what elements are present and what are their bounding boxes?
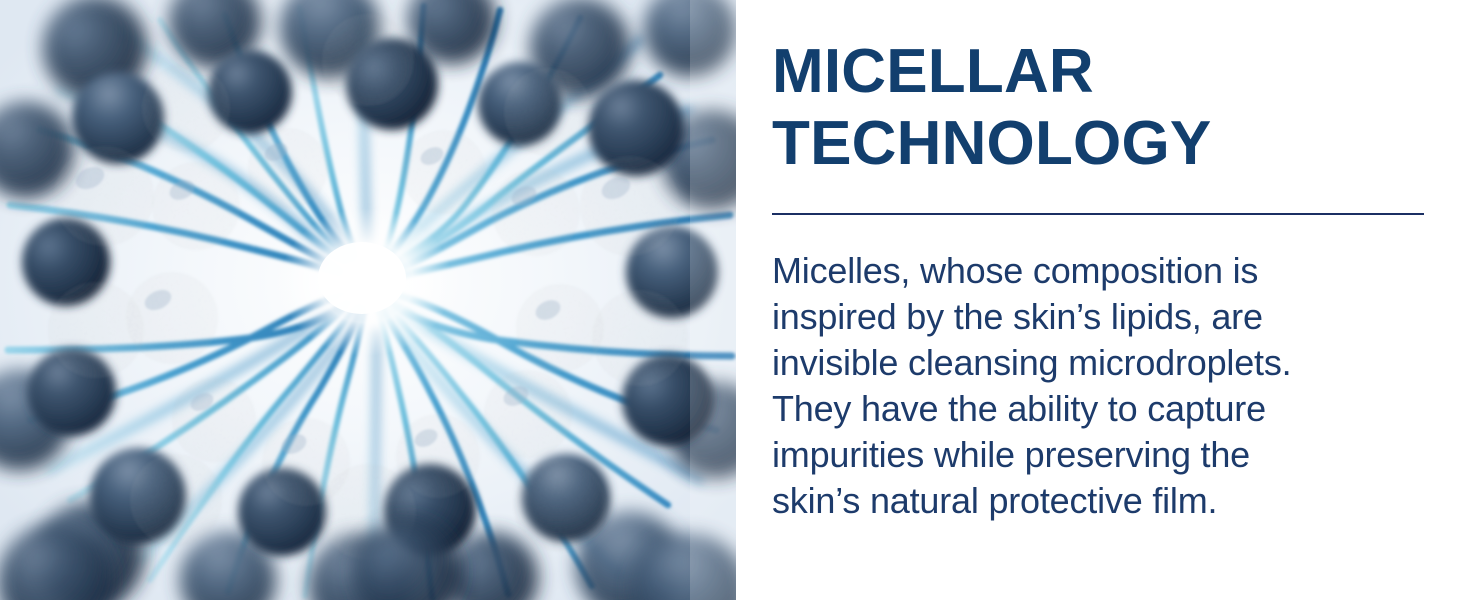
divider — [772, 213, 1424, 215]
page-title: MICELLAR TECHNOLOGY — [772, 36, 1424, 180]
micelle-3d-illustration — [0, 0, 736, 600]
body-paragraph: Micelles, whose composition is inspired … — [772, 248, 1424, 524]
copy-panel: MICELLAR TECHNOLOGY Micelles, whose comp… — [736, 0, 1464, 600]
micellar-technology-banner: MICELLAR TECHNOLOGY Micelles, whose comp… — [0, 0, 1464, 600]
micelle-illustration-panel — [0, 0, 736, 600]
